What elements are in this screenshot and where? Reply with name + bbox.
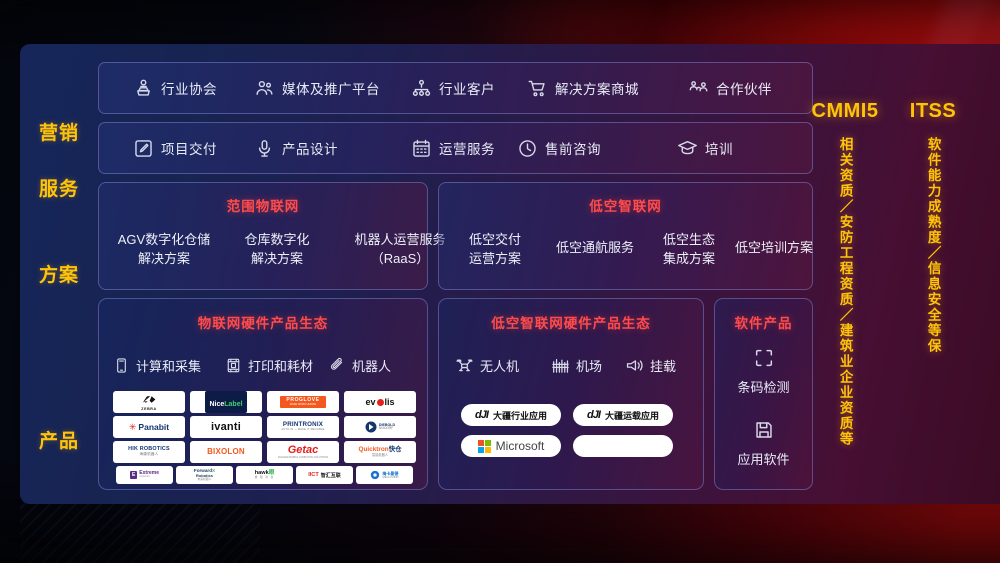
- product-category-label: 机场: [576, 356, 602, 375]
- paperclip-robot-icon: [329, 357, 346, 374]
- partner-logo-hikrobot[interactable]: HIK ROBOTICS 海康机器人: [113, 441, 185, 463]
- service-row-item-label: 项目交付: [161, 138, 217, 158]
- partner-logo-zebra[interactable]: ZEBRA: [113, 391, 185, 413]
- partner-logo-getac[interactable]: GetacRUGGED MOBILE COMPUTING SOLUTIONS: [267, 441, 339, 463]
- marketing-row-item-1[interactable]: 媒体及推广平台: [254, 78, 380, 99]
- partner-logo-proglove[interactable]: PROGLOVE MAKE WORK HUMAN: [267, 391, 339, 413]
- marketing-row-item-label: 行业协会: [161, 78, 217, 98]
- shopping-cart-icon: [527, 78, 548, 99]
- marketing-row-item-label: 行业客户: [439, 78, 495, 98]
- partner-logo-panabit[interactable]: ✳Panabit: [113, 416, 185, 438]
- sidebar-item-1[interactable]: 服务: [20, 174, 98, 201]
- brand-label: Microsoft: [496, 439, 545, 453]
- service-row-item-label: 运营服务: [439, 138, 495, 158]
- clock-icon: [517, 138, 538, 159]
- logo-text-accent: Label: [224, 401, 242, 408]
- product-category[interactable]: 挂载: [625, 356, 676, 375]
- brand-label: 大疆行业应用: [493, 409, 547, 422]
- solution-item[interactable]: 低空生态集成方案: [645, 231, 733, 269]
- marketing-row-item-label: 媒体及推广平台: [282, 78, 380, 98]
- brand-chip[interactable]: [573, 435, 673, 457]
- brand-chip[interactable]: dJI 大疆运载应用: [573, 404, 673, 426]
- brand-chip[interactable]: Microsoft: [461, 435, 561, 457]
- certification-description: 相关资质／安防工程资质／建筑业企业资质等: [835, 137, 854, 447]
- logo-subtext: RUGGED MOBILE COMPUTING SOLUTIONS: [278, 457, 328, 459]
- printer-ribbon-icon: [225, 357, 242, 374]
- partner-logo-printronix[interactable]: PRINTRONIX AUTO ID — MAKE IT RELIABLE: [267, 416, 339, 438]
- service-row-item-label: 售前咨询: [545, 138, 601, 158]
- sidebar-item-label: 方案: [39, 265, 79, 286]
- scan-frame-icon: [753, 347, 775, 369]
- marketing-row-item-2[interactable]: 行业客户: [411, 78, 495, 99]
- zebra-mark: [141, 395, 157, 404]
- logo-subtext: 智能机器人: [359, 454, 402, 457]
- mech-mark: [370, 470, 380, 480]
- software-item[interactable]: 应用软件: [715, 419, 812, 468]
- logo-subtext: MECH MIND: [382, 476, 398, 479]
- marketing-row-item-label: 合作伙伴: [716, 78, 772, 98]
- partner-logo-forwardx[interactable]: ForwardXRobotics未来机器人: [176, 466, 233, 484]
- logo-subtext: MAKE WORK HUMAN: [286, 404, 319, 407]
- product-box-title: 低空智联网硬件产品生态: [439, 312, 703, 332]
- logo-subtext: networks: [139, 476, 159, 479]
- service-row-item-1[interactable]: 产品设计: [254, 138, 338, 159]
- logo-subtext: 未来机器人: [194, 478, 215, 481]
- people-group-icon: [254, 78, 275, 99]
- logo-subtext: 海康机器人: [128, 453, 170, 457]
- service-row-item-label: 产品设计: [282, 138, 338, 158]
- solution-item[interactable]: AGV数字化仓储解决方案: [109, 231, 219, 269]
- product-category[interactable]: 计算和采集: [113, 356, 201, 375]
- pencil-edit-icon: [133, 138, 154, 159]
- solution-item[interactable]: 仓库数字化解决方案: [227, 231, 327, 269]
- logo-subtext: NIXDORF: [379, 427, 395, 430]
- brand-label: 大疆运载应用: [605, 409, 659, 422]
- mobile-device-icon: [113, 357, 130, 374]
- service-row-item-2[interactable]: 运营服务: [411, 138, 495, 159]
- sidebar-item-label: 产品: [39, 431, 79, 452]
- partner-logo-mech[interactable]: 梅卡曼德MECH MIND: [356, 466, 413, 484]
- certification-title: CMMI5: [802, 100, 888, 123]
- partner-logo-evolis[interactable]: evlis: [344, 391, 416, 413]
- sidebar-item-label: 营销: [39, 123, 79, 144]
- partner-logo-quicktron[interactable]: Quicktron快仓智能机器人: [344, 441, 416, 463]
- floppy-disk-icon: [753, 419, 775, 441]
- logo-text: ivanti: [211, 422, 241, 433]
- product-category[interactable]: 打印和耗材: [225, 356, 313, 375]
- solution-item[interactable]: 低空交付运营方案: [451, 231, 539, 269]
- handshake-partners-icon: [688, 78, 709, 99]
- logo-text: PROGLOVE: [286, 398, 319, 403]
- partner-logo-bixolon[interactable]: BIXOLON: [190, 441, 262, 463]
- service-row-item-3[interactable]: 售前咨询: [517, 138, 601, 159]
- dock-station-icon: [551, 356, 570, 375]
- partner-logo-iict[interactable]: IICT智汇互联: [296, 466, 353, 484]
- org-chart-icon: [411, 78, 432, 99]
- certification-description: 软件能力成熟度／信息安全等保: [923, 137, 942, 354]
- product-category[interactable]: 机场: [551, 356, 602, 375]
- logo-dot: [377, 399, 384, 406]
- podium-speaker-icon: [133, 78, 154, 99]
- drone-icon: [455, 356, 474, 375]
- logo-subtext: 智汇互联: [321, 472, 341, 479]
- solution-item[interactable]: 低空通航服务: [543, 239, 647, 258]
- marketing-row-item-0[interactable]: 行业协会: [133, 78, 217, 99]
- certification-title: ITSS: [890, 100, 976, 123]
- dcs-mark: [365, 421, 377, 433]
- sidebar-item-2[interactable]: 方案: [20, 260, 98, 287]
- product-category-label: 机器人: [352, 356, 391, 375]
- logo-subtext: 鹰 眼 科 技: [255, 477, 275, 480]
- graduation-cap-icon: [677, 138, 698, 159]
- logo-text: Nice: [209, 401, 224, 408]
- extreme-mark: E: [130, 471, 137, 479]
- certification-column-0[interactable]: CMMI5 相关资质／安防工程资质／建筑业企业资质等: [802, 100, 888, 452]
- product-category[interactable]: 机器人: [329, 356, 391, 375]
- partner-logo-nicelabel[interactable]: NiceLabel: [190, 391, 262, 413]
- solution-box-title: 低空智联网: [439, 195, 812, 215]
- service-row-item-0[interactable]: 项目交付: [133, 138, 217, 159]
- microsoft-mark: [478, 440, 491, 453]
- logo-text: ZEBRA: [141, 408, 157, 412]
- marketing-row-item-4[interactable]: 合作伙伴: [688, 78, 772, 99]
- logo-text: BIXOLON: [207, 448, 245, 456]
- logo-text: ev: [365, 397, 375, 407]
- product-box-software: 软件产品 条码检测 应用软件: [714, 298, 813, 490]
- product-box-iot: 物联网硬件产品生态 计算和采集 打印和耗材 机器人 ZEBRA NiceLabe…: [98, 298, 428, 490]
- software-item-label: 条码检测: [737, 380, 789, 395]
- software-item[interactable]: 条码检测: [715, 347, 812, 396]
- partner-logo-hawk[interactable]: hawk眼鹰 眼 科 技: [236, 466, 293, 484]
- solution-box-title: 范围物联网: [99, 195, 427, 215]
- sidebar-item-0[interactable]: 营销: [20, 118, 98, 145]
- product-category-label: 无人机: [480, 356, 519, 375]
- solution-box-iot: 范围物联网AGV数字化仓储解决方案仓库数字化解决方案机器人运营服务（RaaS）: [98, 182, 428, 290]
- product-box-title: 物联网硬件产品生态: [99, 312, 427, 332]
- product-box-title: 软件产品: [715, 312, 812, 332]
- calendar-icon: [411, 138, 432, 159]
- partner-logo-extreme[interactable]: EExtremenetworks: [116, 466, 173, 484]
- solution-box-uav: 低空智联网低空交付运营方案低空通航服务低空生态集成方案低空培训方案: [438, 182, 813, 290]
- certification-column-1[interactable]: ITSS 软件能力成熟度／信息安全等保: [890, 100, 976, 359]
- service-row: 项目交付 产品设计 运营服务 售前咨询 培训: [98, 122, 813, 174]
- logo-text: Getac: [278, 445, 328, 456]
- software-item-label: 应用软件: [737, 452, 789, 467]
- product-category-label: 计算和采集: [136, 356, 201, 375]
- marketing-row-item-label: 解决方案商城: [555, 78, 639, 98]
- product-box-uav: 低空智联网硬件产品生态 无人机 机场 挂载dJI 大疆行业应用dJI 大疆运载应…: [438, 298, 704, 490]
- sidebar-item-label: 服务: [39, 179, 79, 200]
- logo-text: Panabit: [138, 422, 169, 432]
- panabit-mark: ✳: [129, 422, 137, 433]
- logo-subtext: AUTO ID — MAKE IT RELIABLE: [281, 429, 324, 432]
- sidebar-item-3[interactable]: 产品: [20, 426, 98, 453]
- dji-mark: dJI: [475, 409, 488, 421]
- partner-logo-ivanti[interactable]: ivanti: [190, 416, 262, 438]
- logo-text: lis: [385, 397, 395, 407]
- microphone-icon: [254, 138, 275, 159]
- marketing-row-item-3[interactable]: 解决方案商城: [527, 78, 639, 99]
- product-category[interactable]: 无人机: [455, 356, 519, 375]
- brand-chip[interactable]: dJI 大疆行业应用: [461, 404, 561, 426]
- partner-logo-dcs[interactable]: DIEBOLDNIXDORF: [344, 416, 416, 438]
- product-category-label: 打印和耗材: [248, 356, 313, 375]
- logo-text: IICT: [308, 472, 319, 478]
- marketing-row: 行业协会 媒体及推广平台 行业客户 解决方案商城 合作伙伴: [98, 62, 813, 114]
- payload-gimbal-icon: [625, 356, 644, 375]
- service-row-item-label: 培训: [705, 138, 733, 158]
- product-category-label: 挂载: [650, 356, 676, 375]
- service-row-item-4[interactable]: 培训: [677, 138, 733, 159]
- dji-mark: dJI: [587, 409, 600, 421]
